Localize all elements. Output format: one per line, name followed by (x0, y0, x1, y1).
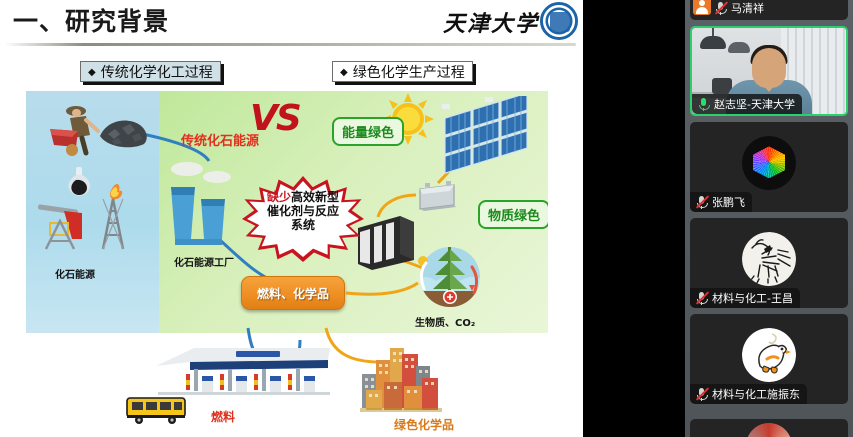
mic-unmuted-icon (697, 97, 710, 111)
mic-muted-icon (695, 291, 708, 305)
participant-name-chip: 马清祥 (714, 0, 764, 16)
comparison-illustration-panel: VS 传统化石能源 (26, 91, 548, 333)
catalyst-stack-icon (356, 214, 416, 272)
section-label-green: ◆绿色化学生产过程 (332, 61, 473, 82)
page-title: 一、研究背景 (13, 2, 169, 38)
participant-name: 材料与化工-王昌 (712, 290, 793, 306)
green-label-energy: 能量绿色 (332, 117, 404, 146)
diamond-bullet-icon: ◆ (88, 67, 96, 78)
starburst-line1-red: 缺少 (267, 190, 291, 204)
participant-name-chip: 张鹏飞 (690, 192, 752, 212)
bus-icon (125, 395, 187, 425)
participant-tile-active-speaker[interactable]: 赵志坚-天津大学 (690, 26, 848, 116)
caption-fuel: 燃料 (211, 408, 235, 425)
participant-tile-partial-bottom[interactable] (690, 419, 848, 437)
participant-name: 马清祥 (731, 0, 764, 16)
mic-muted-icon (714, 1, 727, 15)
participant-name-chip: 材料与化工-王昌 (690, 288, 800, 308)
solar-panels-icon (439, 96, 539, 176)
black-gutter (583, 0, 685, 437)
participant-tile-zhangpengfei[interactable]: 张鹏飞 (690, 122, 848, 212)
starburst-line3: 系统 (242, 218, 364, 232)
participant-tile-wangchang[interactable]: 材料与化工-王昌 (690, 218, 848, 308)
university-wordmark: 天津大学 (443, 6, 539, 38)
meeting-screen-share-view: 一、研究背景 天津大学 ◆传统化学化工过程 ◆绿色化学生产过程 (0, 0, 853, 437)
coal-worker-icon (48, 101, 104, 159)
problem-starburst: 缺少高效新型 催化剂与反应 系统 (242, 176, 364, 262)
title-divider (4, 43, 576, 46)
gas-flare-derrick-icon (97, 179, 129, 251)
participant-name-chip: 赵志坚-天津大学 (692, 94, 802, 114)
section-label-traditional: ◆传统化学化工过程 (80, 61, 221, 82)
shared-slide: 一、研究背景 天津大学 ◆传统化学化工过程 ◆绿色化学生产过程 (0, 0, 583, 437)
participant-tile-partial-top[interactable]: 马清祥 (690, 0, 848, 20)
section-label-green-text: 绿色化学生产过程 (353, 65, 465, 81)
traditional-fossil-energy-label: 传统化石能源 (181, 130, 259, 149)
participant-name: 赵志坚-天津大学 (714, 96, 795, 112)
participant-name: 材料与化工施振东 (712, 386, 800, 402)
section-label-traditional-text: 传统化学化工过程 (101, 65, 213, 81)
caption-green-chemicals: 绿色化学品 (394, 416, 454, 433)
colorful-cube-image (742, 136, 796, 190)
caption-fossil-energy: 化石能源 (55, 266, 95, 281)
battery-icon (416, 179, 458, 211)
participant-name: 张鹏飞 (712, 194, 745, 210)
sketch-drawing-image (742, 232, 796, 286)
partial-tile-image (746, 423, 792, 437)
mic-muted-icon (695, 387, 708, 401)
starburst-line2: 催化剂与反应 (242, 204, 364, 218)
oil-flask-icon (64, 166, 94, 198)
coal-pile-icon (98, 118, 150, 148)
starburst-line1-rest: 高效新型 (291, 190, 339, 204)
person-placeholder-icon (693, 0, 711, 15)
participant-tile-shizhendong[interactable]: 材料与化工施振东 (690, 314, 848, 404)
avatar (742, 328, 796, 382)
caption-fossil-plant: 化石能源工厂 (174, 254, 234, 269)
oil-pumpjack-icon (34, 199, 92, 253)
participant-sidebar[interactable]: 马清祥 赵志坚-天津大学 (685, 0, 853, 437)
duck-cartoon-image (742, 328, 796, 382)
starburst-text: 缺少高效新型 催化剂与反应 系统 (242, 190, 364, 232)
mic-muted-icon (695, 195, 708, 209)
green-label-matter: 物质绿色 (478, 200, 548, 229)
fossil-power-plant-icon (161, 157, 241, 247)
participant-name-chip: 材料与化工施振东 (690, 384, 807, 404)
avatar (742, 136, 796, 190)
gas-station-icon (150, 340, 335, 400)
diamond-bullet-icon: ◆ (340, 67, 348, 78)
green-chemical-city-icon (360, 338, 442, 416)
university-seal-icon (540, 2, 578, 40)
avatar (742, 232, 796, 286)
